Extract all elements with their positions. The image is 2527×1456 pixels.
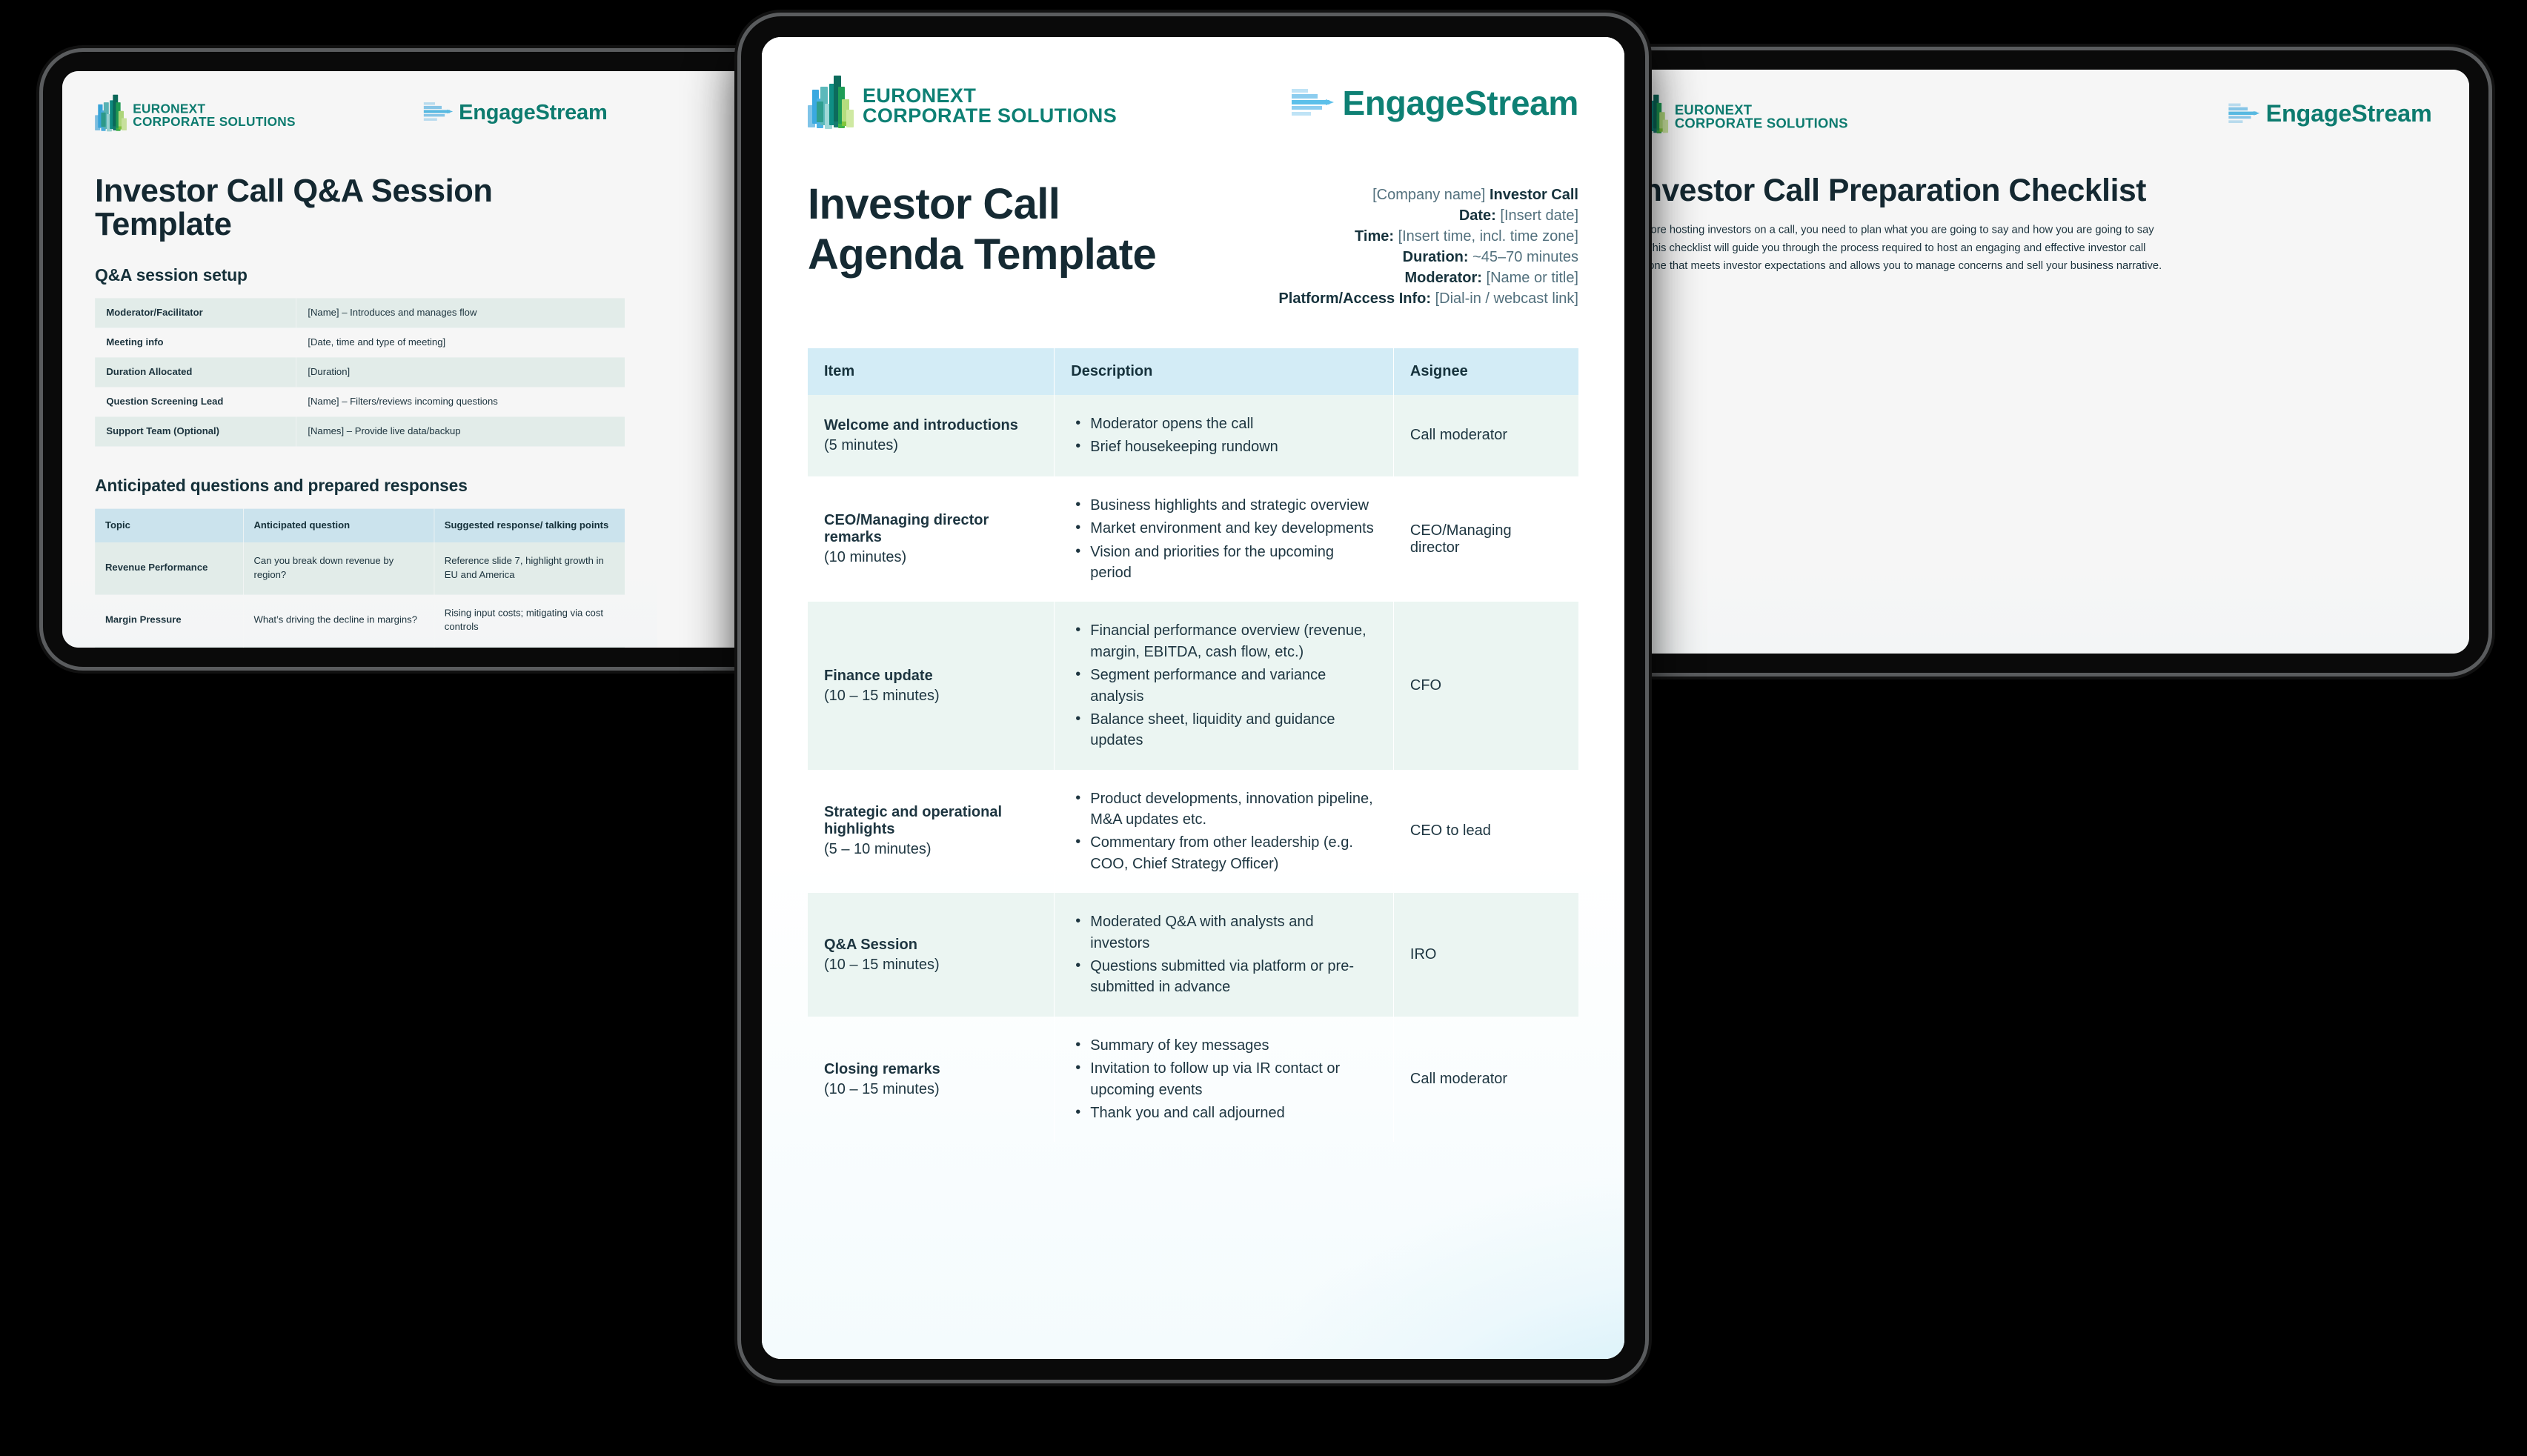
agenda-assignee: IRO xyxy=(1393,893,1578,1017)
document-header: EURONEXT CORPORATE SOLUTIONS EngageStrea… xyxy=(95,100,625,132)
euronext-logo: EURONEXT CORPORATE SOLUTIONS xyxy=(808,83,1117,129)
agenda-assignee: Call moderator xyxy=(1393,395,1578,476)
description-bullets: Business highlights and strategic overvi… xyxy=(1071,495,1377,584)
meta-value: [Dial-in / webcast link] xyxy=(1431,290,1578,307)
checklist-intro: Before hosting investors on a call, you … xyxy=(1634,221,2431,275)
engagestream-logo: EngageStream xyxy=(1292,83,1578,123)
description-bullets: Financial performance overview (revenue,… xyxy=(1071,620,1377,751)
tablet-center: EURONEXT CORPORATE SOLUTIONS EngageStrea… xyxy=(741,16,1645,1380)
euronext-line1: EURONEXT xyxy=(863,86,1117,106)
description-bullet: Financial performance overview (revenue,… xyxy=(1071,620,1377,662)
meta-value: [Insert date] xyxy=(1496,207,1578,224)
agenda-description: Summary of key messagesInvitation to fol… xyxy=(1055,1017,1394,1143)
meta-label: Date: xyxy=(1459,207,1496,224)
agenda-assignee: CFO xyxy=(1393,602,1578,769)
setup-value: [Name] – Introduces and manages flow xyxy=(296,298,625,328)
page-title: Investor Call Q&A Session Template xyxy=(95,174,625,241)
qa-question: Can you break down revenue by region? xyxy=(243,542,434,594)
setup-value: [Date, time and type of meeting] xyxy=(296,328,625,357)
agenda-item-duration: (10 minutes) xyxy=(824,549,1037,566)
page-title-line2: Agenda Template xyxy=(808,233,1156,277)
setup-label: Moderator/Facilitator xyxy=(95,298,296,328)
table-row: Support Team (Optional)[Names] – Provide… xyxy=(95,416,625,446)
agenda-item: Finance update(10 – 15 minutes) xyxy=(808,602,1055,769)
euronext-wordmark: EURONEXT CORPORATE SOLUTIONS xyxy=(1675,104,1848,131)
engagestream-logo: EngageStream xyxy=(424,100,607,124)
euronext-wordmark: EURONEXT CORPORATE SOLUTIONS xyxy=(863,86,1117,126)
qa-topic: Margin Pressure xyxy=(95,594,243,646)
euronext-logo: EURONEXT CORPORATE SOLUTIONS xyxy=(1634,100,1847,134)
table-row: Strategic InvestmentsPlans for expansion… xyxy=(95,647,625,648)
description-bullet: Balance sheet, liquidity and guidance up… xyxy=(1071,709,1377,751)
description-bullet: Vision and priorities for the upcoming p… xyxy=(1071,542,1377,584)
agenda-description: Business highlights and strategic overvi… xyxy=(1055,476,1394,602)
agenda-item-name: Finance update xyxy=(824,668,1037,685)
meta-value: Investor Call xyxy=(1485,187,1578,203)
agenda-item-name: Closing remarks xyxy=(824,1061,1037,1078)
meta-row: Platform/Access Info: [Dial-in / webcast… xyxy=(1278,290,1578,308)
table-row: Duration Allocated[Duration] xyxy=(95,357,625,387)
description-bullet: Brief housekeeping rundown xyxy=(1071,436,1377,457)
table-row: CEO/Managing director remarks(10 minutes… xyxy=(808,476,1578,602)
column-header: Anticipated question xyxy=(243,508,434,542)
column-header: Asignee xyxy=(1393,348,1578,395)
intro-line: it. This checklist will guide you throug… xyxy=(1634,239,2431,256)
tablet-right-screen: EURONEXT CORPORATE SOLUTIONS EngageStrea… xyxy=(1596,70,2469,654)
table-row: Q&A Session(10 – 15 minutes)Moderated Q&… xyxy=(808,893,1578,1017)
euronext-line2: CORPORATE SOLUTIONS xyxy=(1675,117,1848,130)
qa-topic: Revenue Performance xyxy=(95,542,243,594)
agenda-item: CEO/Managing director remarks(10 minutes… xyxy=(808,476,1055,602)
meta-label: Duration: xyxy=(1403,249,1469,265)
description-bullet: Questions submitted via platform or pre-… xyxy=(1071,956,1377,998)
agenda-assignee: CEO/Managing director xyxy=(1393,476,1578,602)
setup-value: [Names] – Provide live data/backup xyxy=(296,416,625,446)
qa-question: What’s driving the decline in margins? xyxy=(243,594,434,646)
engagestream-wordmark: EngageStream xyxy=(1342,83,1578,123)
euronext-line2: CORPORATE SOLUTIONS xyxy=(863,106,1117,126)
meta-label: Moderator: xyxy=(1405,270,1482,286)
setup-label: Meeting info xyxy=(95,328,296,357)
euronext-bars-logo-icon xyxy=(808,83,852,129)
description-bullet: Summary of key messages xyxy=(1071,1035,1377,1056)
euronext-wordmark: EURONEXT CORPORATE SOLUTIONS xyxy=(133,103,296,129)
agenda-item-name: CEO/Managing director remarks xyxy=(824,512,1037,546)
agenda-item-duration: (5 – 10 minutes) xyxy=(824,841,1037,858)
qa-question: Plans for expansion in Asia? xyxy=(243,647,434,648)
setup-label: Duration Allocated xyxy=(95,357,296,387)
table-row: Margin PressureWhat’s driving the declin… xyxy=(95,594,625,646)
table-row: Revenue PerformanceCan you break down re… xyxy=(95,542,625,594)
engagestream-arrow-logo-icon xyxy=(2229,101,2259,127)
qa-anticipated-table: TopicAnticipated questionSuggested respo… xyxy=(95,508,625,648)
agenda-item-name: Strategic and operational highlights xyxy=(824,804,1037,838)
description-bullet: Commentary from other leadership (e.g. C… xyxy=(1071,832,1377,874)
engagestream-wordmark: EngageStream xyxy=(2266,100,2432,127)
setup-value: [Duration] xyxy=(296,357,625,387)
agenda-description: Financial performance overview (revenue,… xyxy=(1055,602,1394,769)
table-row: Finance update(10 – 15 minutes)Financial… xyxy=(808,602,1578,769)
setup-value: [Name] – Filters/reviews incoming questi… xyxy=(296,387,625,416)
description-bullet: Moderated Q&A with analysts and investor… xyxy=(1071,911,1377,954)
description-bullet: Product developments, innovation pipelin… xyxy=(1071,788,1377,831)
agenda-item-duration: (10 – 15 minutes) xyxy=(824,1081,1037,1098)
agenda-item: Welcome and introductions(5 minutes) xyxy=(808,395,1055,476)
description-bullets: Moderator opens the callBrief housekeepi… xyxy=(1071,413,1377,458)
table-row: Meeting info[Date, time and type of meet… xyxy=(95,328,625,357)
setup-label: Question Screening Lead xyxy=(95,387,296,416)
column-header: Suggested response/ talking points xyxy=(434,508,625,542)
engagestream-wordmark: EngageStream xyxy=(459,100,607,124)
column-header: Description xyxy=(1055,348,1394,395)
description-bullet: Market environment and key developments xyxy=(1071,518,1377,539)
table-row: Strategic and operational highlights(5 –… xyxy=(808,770,1578,894)
agenda-item-duration: (10 – 15 minutes) xyxy=(824,957,1037,974)
agenda-description: Product developments, innovation pipelin… xyxy=(1055,770,1394,894)
agenda-item-duration: (5 minutes) xyxy=(824,437,1037,454)
page-title: Investor Call Agenda Template xyxy=(808,182,1156,276)
euronext-line2: CORPORATE SOLUTIONS xyxy=(133,116,296,128)
agenda-item: Strategic and operational highlights(5 –… xyxy=(808,770,1055,894)
agenda-assignee: Call moderator xyxy=(1393,1017,1578,1143)
engagestream-arrow-logo-icon xyxy=(424,100,453,124)
meta-label: Platform/Access Info: xyxy=(1278,290,1431,307)
meta-row: Time: [Insert time, incl. time zone] xyxy=(1278,228,1578,245)
document-header: EURONEXT CORPORATE SOLUTIONS EngageStrea… xyxy=(808,83,1578,129)
section-title-anticipated: Anticipated questions and prepared respo… xyxy=(95,476,625,495)
intro-line: Before hosting investors on a call, you … xyxy=(1634,221,2431,239)
tablet-right: EURONEXT CORPORATE SOLUTIONS EngageStrea… xyxy=(1577,50,2488,673)
agenda-item: Closing remarks(10 – 15 minutes) xyxy=(808,1017,1055,1143)
qa-response: Market research underway; pilot launch i… xyxy=(434,647,625,648)
qa-setup-table: Moderator/Facilitator[Name] – Introduces… xyxy=(95,298,625,446)
description-bullet: Moderator opens the call xyxy=(1071,413,1377,434)
description-bullets: Moderated Q&A with analysts and investor… xyxy=(1071,911,1377,998)
meta-row: Moderator: [Name or title] xyxy=(1278,270,1578,287)
intro-line: — one that meets investor expectations a… xyxy=(1634,257,2431,275)
meta-value: [Insert time, incl. time zone] xyxy=(1394,228,1578,245)
table-row: Moderator/Facilitator[Name] – Introduces… xyxy=(95,298,625,328)
page-title-line1: Investor Call xyxy=(808,182,1156,227)
agenda-item-name: Q&A Session xyxy=(824,937,1037,954)
qa-response: Reference slide 7, highlight growth in E… xyxy=(434,542,625,594)
description-bullets: Product developments, innovation pipelin… xyxy=(1071,788,1377,875)
table-row: Welcome and introductions(5 minutes)Mode… xyxy=(808,395,1578,476)
meta-label: Time: xyxy=(1355,228,1394,245)
table-row: Closing remarks(10 – 15 minutes)Summary … xyxy=(808,1017,1578,1143)
tablet-center-screen: EURONEXT CORPORATE SOLUTIONS EngageStrea… xyxy=(762,37,1624,1359)
engagestream-logo: EngageStream xyxy=(2229,100,2432,127)
call-meta-block: [Company name] Investor CallDate: [Inser… xyxy=(1278,187,1578,311)
meta-value: [Name or title] xyxy=(1482,270,1578,286)
description-bullet: Business highlights and strategic overvi… xyxy=(1071,495,1377,516)
agenda-description: Moderator opens the callBrief housekeepi… xyxy=(1055,395,1394,476)
euronext-line1: EURONEXT xyxy=(1675,104,1848,117)
euronext-logo: EURONEXT CORPORATE SOLUTIONS xyxy=(95,100,296,132)
meta-row: Duration: ~45–70 minutes xyxy=(1278,249,1578,266)
agenda-item-name: Welcome and introductions xyxy=(824,417,1037,434)
agenda-description: Moderated Q&A with analysts and investor… xyxy=(1055,893,1394,1017)
qa-response: Rising input costs; mitigating via cost … xyxy=(434,594,625,646)
description-bullet: Segment performance and variance analysi… xyxy=(1071,665,1377,707)
meta-value: ~45–70 minutes xyxy=(1469,249,1578,265)
agenda-item: Q&A Session(10 – 15 minutes) xyxy=(808,893,1055,1017)
table-row: Question Screening Lead[Name] – Filters/… xyxy=(95,387,625,416)
meta-row: Date: [Insert date] xyxy=(1278,207,1578,225)
euronext-line1: EURONEXT xyxy=(133,103,296,116)
description-bullets: Summary of key messagesInvitation to fol… xyxy=(1071,1035,1377,1124)
agenda-table: ItemDescriptionAsigneeWelcome and introd… xyxy=(808,348,1578,1142)
agenda-item-duration: (10 – 15 minutes) xyxy=(824,688,1037,705)
qa-topic: Strategic Investments xyxy=(95,647,243,648)
euronext-bars-logo-icon xyxy=(95,100,125,132)
meta-row: [Company name] Investor Call xyxy=(1278,187,1578,204)
setup-label: Support Team (Optional) xyxy=(95,416,296,446)
meta-label: [Company name] xyxy=(1372,187,1485,203)
document-header: EURONEXT CORPORATE SOLUTIONS EngageStrea… xyxy=(1634,100,2431,134)
column-header: Item xyxy=(808,348,1055,395)
table-header-row: ItemDescriptionAsignee xyxy=(808,348,1578,395)
engagestream-arrow-logo-icon xyxy=(1292,85,1333,121)
description-bullet: Invitation to follow up via IR contact o… xyxy=(1071,1058,1377,1100)
page-title: Investor Call Preparation Checklist xyxy=(1634,174,2431,207)
table-header-row: TopicAnticipated questionSuggested respo… xyxy=(95,508,625,542)
section-title-setup: Q&A session setup xyxy=(95,265,625,285)
column-header: Topic xyxy=(95,508,243,542)
description-bullet: Thank you and call adjourned xyxy=(1071,1103,1377,1123)
agenda-assignee: CEO to lead xyxy=(1393,770,1578,894)
